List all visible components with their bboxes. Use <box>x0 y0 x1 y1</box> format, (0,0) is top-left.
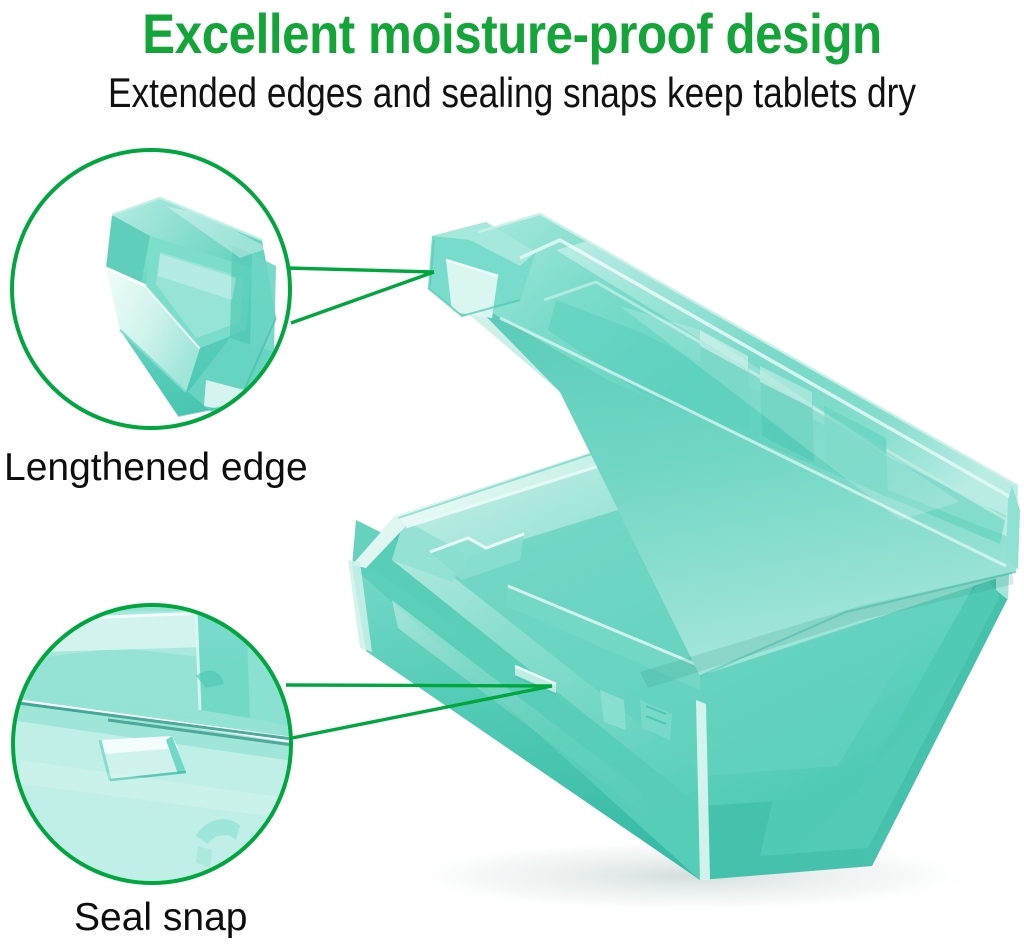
leader-lines <box>286 268 552 738</box>
leader-line-lengthened-bottom <box>291 272 434 323</box>
leader-line-sealsnap-bottom <box>292 686 552 738</box>
leader-line-lengthened-top <box>287 268 434 272</box>
leader-line-sealsnap-top <box>286 685 552 686</box>
infographic-canvas: Excellent moisture-proof design Extended… <box>0 0 1024 950</box>
callout-layer <box>0 0 1024 950</box>
